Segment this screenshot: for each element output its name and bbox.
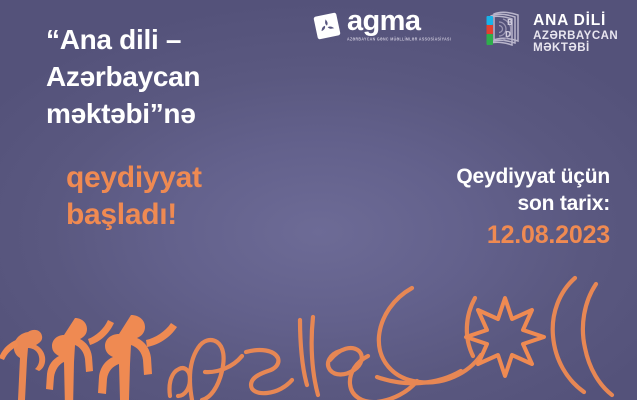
headline: “Ana dili – Azərbaycan məktəbi”nə: [46, 22, 346, 133]
subhead: qeydiyyat başladı!: [66, 160, 202, 233]
ana-dili-mektebi-logo: B D ANA DİLİ AZƏRBAYCAN MƏKTƏBİ: [477, 8, 618, 59]
headline-line-2: Azərbaycan: [46, 59, 346, 96]
adm-line-3: MƏKTƏBİ: [533, 42, 618, 54]
deadline-line-2: son tarix:: [456, 190, 610, 217]
book-pages-flag-emblem-icon: B D: [477, 8, 525, 59]
subhead-line-2: başladı!: [66, 197, 202, 234]
svg-text:B: B: [507, 18, 513, 27]
headline-line-3: məktəbi”nə: [46, 96, 346, 133]
headline-line-1: “Ana dili –: [46, 22, 346, 59]
ana-dili-mektebi-text: ANA DİLİ AZƏRBAYCAN MƏKTƏBİ: [533, 13, 618, 53]
subhead-line-1: qeydiyyat: [66, 160, 202, 197]
agma-wordmark: agma: [347, 8, 451, 35]
petroglyph-artwork: [0, 260, 637, 400]
deadline-date: 12.08.2023: [456, 219, 610, 252]
cursive-letters-icon: [169, 278, 612, 400]
adm-line-1: ANA DİLİ: [533, 13, 618, 29]
svg-text:D: D: [505, 30, 511, 39]
agma-subtitle: AZƏRBAYCAN GƏNC MÜƏLLİMLƏR ASSOSİASİYASI: [347, 37, 451, 43]
poster-canvas: agma AZƏRBAYCAN GƏNC MÜƏLLİMLƏR ASSOSİAS…: [0, 0, 637, 400]
petroglyph-figures-icon: [0, 315, 177, 400]
agma-wordmark-wrap: agma AZƏRBAYCAN GƏNC MÜƏLLİMLƏR ASSOSİAS…: [347, 8, 451, 42]
deadline-block: Qeydiyyat üçün son tarix: 12.08.2023: [456, 163, 610, 251]
eight-pointed-star-icon: [466, 298, 544, 376]
deadline-line-1: Qeydiyyat üçün: [456, 163, 610, 190]
adm-line-2: AZƏRBAYCAN: [533, 30, 618, 42]
logo-bar: agma AZƏRBAYCAN GƏNC MÜƏLLİMLƏR ASSOSİAS…: [312, 8, 618, 59]
